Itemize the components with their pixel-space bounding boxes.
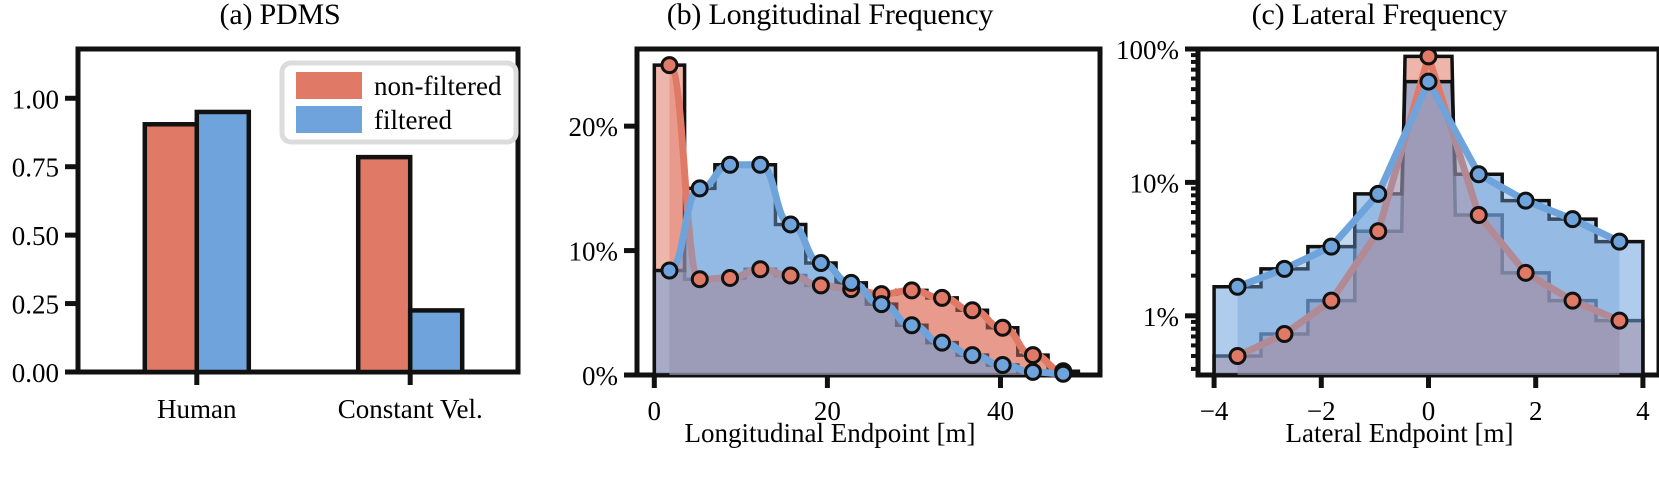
panel-a-bars: [145, 112, 462, 372]
panel-c-marker: [1421, 49, 1436, 64]
panel-b-marker: [692, 181, 707, 196]
panel-a-ytick-label: 0.50: [12, 221, 59, 251]
panel-c-ytick-label: 1%: [1143, 302, 1179, 332]
panel-b-marker: [813, 256, 828, 271]
panel-b-svg: 0%10%20% 02040: [560, 0, 1100, 480]
panel-b-ytick-label: 10%: [569, 237, 619, 267]
panel-c-plot: [1214, 49, 1643, 375]
legend-swatch-filtered: [296, 106, 362, 133]
panel-b-marker: [753, 262, 768, 277]
panel-b-marker: [662, 58, 677, 73]
panel-a-svg: 0.000.250.500.751.00 HumanConstant Vel. …: [0, 0, 560, 480]
panel-a-bar: [358, 157, 410, 372]
panel-a-bar: [410, 310, 462, 372]
panel-c-marker: [1371, 224, 1386, 239]
panel-a-ytick-label: 0.00: [12, 358, 59, 388]
panel-c-area-filtered: [1238, 82, 1620, 375]
panel-c-marker: [1277, 261, 1292, 276]
panel-c-marker: [1230, 348, 1245, 363]
panel-c-marker: [1612, 313, 1627, 328]
panel-a-x-ticks: HumanConstant Vel.: [157, 372, 483, 424]
panel-c-marker: [1565, 293, 1580, 308]
panel-c-marker: [1371, 186, 1386, 201]
panel-c-marker: [1277, 327, 1292, 342]
panel-b-marker: [935, 290, 950, 305]
panel-a-ytick-label: 0.75: [12, 153, 59, 183]
panel-c-marker: [1230, 279, 1245, 294]
panel-c-marker: [1421, 74, 1436, 89]
panel-a-xtick-label: Human: [157, 394, 237, 424]
panel-b-marker: [783, 217, 798, 232]
panel-b-marker: [1025, 364, 1040, 379]
panel-a-xtick-label: Constant Vel.: [338, 394, 483, 424]
panel-b-marker: [753, 157, 768, 172]
panel-c-ytick-label: 10%: [1130, 168, 1180, 198]
panel-b-ytick-label: 20%: [569, 112, 619, 142]
panel-c-marker: [1565, 212, 1580, 227]
panel-c-svg: 1%10%100% −4−2024: [1100, 0, 1659, 480]
panel-c-marker: [1612, 234, 1627, 249]
panel-b-marker: [1025, 348, 1040, 363]
panel-c-y-ticks: 1%10%100%: [1116, 35, 1198, 369]
panel-b-xlabel: Longitudinal Endpoint [m]: [560, 418, 1100, 448]
panel-a-bar: [145, 124, 197, 372]
panel-b-marker: [965, 303, 980, 318]
panel-b-marker: [995, 320, 1010, 335]
panel-c-marker: [1471, 207, 1486, 222]
panel-c-xlabel: Lateral Endpoint [m]: [1140, 418, 1659, 448]
panel-b-marker: [723, 157, 738, 172]
panel-b-marker: [1056, 366, 1071, 381]
panel-a-y-ticks: 0.000.250.500.751.00: [12, 84, 78, 388]
panel-b-marker: [904, 318, 919, 333]
legend: non-filtered filtered: [282, 63, 516, 142]
panel-c-marker: [1324, 239, 1339, 254]
panel-b-ytick-label: 0%: [582, 361, 618, 391]
panel-b-marker: [844, 275, 859, 290]
panel-b-marker: [662, 263, 677, 278]
legend-swatch-non-filtered: [296, 72, 362, 99]
panel-a-bar: [197, 112, 249, 372]
panel-b-marker: [995, 358, 1010, 373]
panel-b-marker: [965, 348, 980, 363]
panel-b-marker: [874, 297, 889, 312]
panel-c-marker: [1471, 167, 1486, 182]
panel-b-marker: [783, 268, 798, 283]
panel-b-marker: [692, 272, 707, 287]
panel-b-marker: [935, 335, 950, 350]
panel-b-marker: [813, 278, 828, 293]
panel-pdms: (a) PDMS 0.000.250.500.751.00 HumanConst…: [0, 0, 560, 480]
panel-c-ytick-label: 100%: [1116, 35, 1179, 65]
panel-lateral-frequency: (c) Lateral Frequency 1%10%100% −4−2024 …: [1100, 0, 1659, 480]
panel-b-y-ticks: 0%10%20%: [569, 112, 638, 391]
panel-b-marker: [723, 270, 738, 285]
panel-c-marker: [1518, 193, 1533, 208]
legend-label-filtered: filtered: [374, 105, 452, 135]
panel-c-marker: [1518, 265, 1533, 280]
figure-root: (a) PDMS 0.000.250.500.751.00 HumanConst…: [0, 0, 1659, 480]
panel-b-marker: [904, 283, 919, 298]
legend-label-non-filtered: non-filtered: [374, 71, 502, 101]
panel-a-ytick-label: 1.00: [12, 84, 59, 114]
panel-b-plot: [654, 58, 1078, 382]
panel-c-marker: [1324, 293, 1339, 308]
panel-longitudinal-frequency: (b) Longitudinal Frequency 0%10%20% 0204…: [560, 0, 1100, 480]
panel-a-ytick-label: 0.25: [12, 290, 59, 320]
